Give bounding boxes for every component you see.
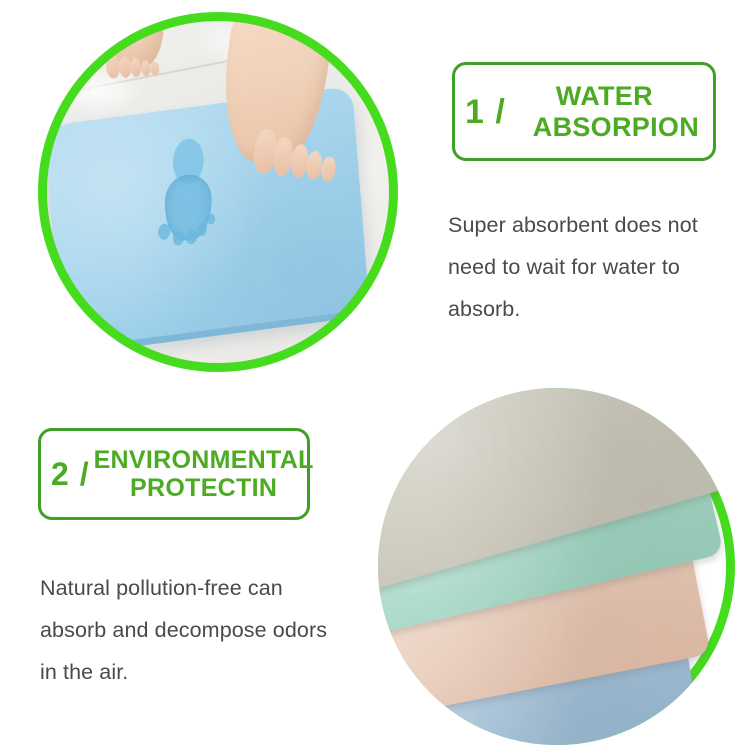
feature-2-headline-box: 2 / ENVIRONMENTAL PROTECTIN [38, 428, 310, 520]
infographic-page: 1 / WATER ABSORPION Super absorbent does… [0, 0, 750, 750]
feature-1-title: WATER ABSORPION [510, 81, 699, 141]
footprint-toe [208, 213, 216, 224]
feature-2-title-line-1: ENVIRONMENTAL [94, 446, 314, 474]
feature-2-title: ENVIRONMENTAL PROTECTIN [94, 446, 314, 502]
feature-1-number: 1 / [465, 95, 510, 129]
left-foot-toes [106, 50, 165, 79]
blue-bath-mat [45, 86, 369, 349]
toe [320, 156, 336, 182]
feature-2-title-line-2: PROTECTIN [94, 474, 314, 502]
feature-1-title-line-2: ABSORPION [510, 112, 699, 142]
feature-1-headline-box: 1 / WATER ABSORPION [452, 62, 716, 161]
mat-color-stack [378, 388, 735, 745]
feature-1-body-text: Super absorbent does not need to wait fo… [448, 205, 738, 331]
toe [151, 61, 161, 75]
photo-water-absorption-scene [38, 12, 398, 372]
feature-1-title-line-1: WATER [510, 81, 699, 111]
wet-footprint-mark [154, 137, 228, 247]
photo-color-options [378, 388, 735, 745]
photo-water-absorption [38, 12, 398, 372]
footprint-toe [173, 230, 185, 245]
feature-2-number: 2 / [51, 458, 94, 490]
feature-2-body-text: Natural pollution-free can absorb and de… [40, 568, 340, 694]
footprint-toe [186, 230, 197, 244]
